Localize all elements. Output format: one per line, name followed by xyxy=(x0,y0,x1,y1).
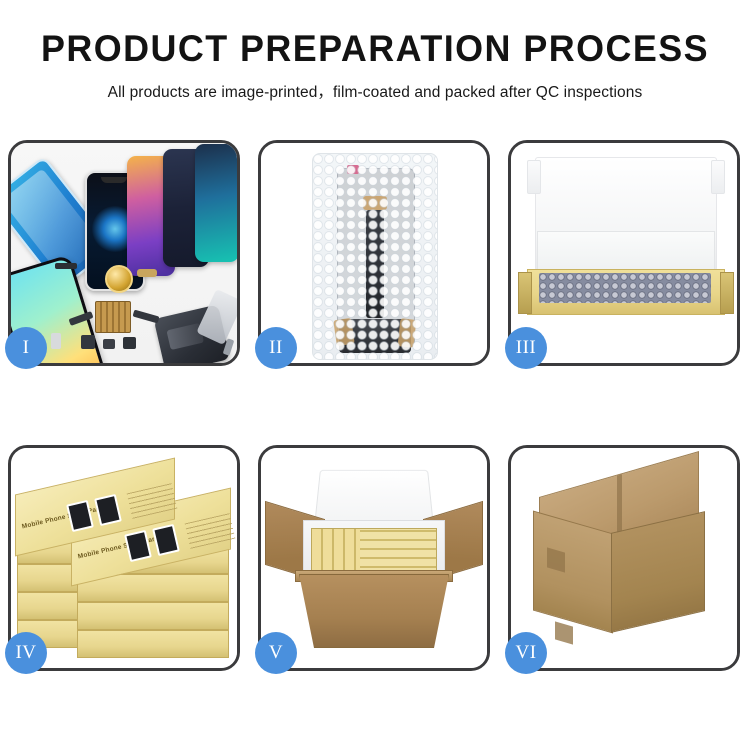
small-component-3 xyxy=(123,337,136,349)
step-image-3 xyxy=(511,143,737,363)
step-panel-4: Mobile Phone Spare Parts Mobile Phone Sp… xyxy=(8,445,240,671)
header: PRODUCT PREPARATION PROCESS All products… xyxy=(0,0,750,102)
step-image-1 xyxy=(11,143,237,363)
page-subtitle: All products are image-printed，film-coat… xyxy=(0,80,750,102)
step-badge-2: II xyxy=(255,327,297,369)
flex-cable-part-2 xyxy=(133,310,160,324)
step-badge-3: III xyxy=(505,327,547,369)
page-title: PRODUCT PREPARATION PROCESS xyxy=(11,30,739,69)
sealed-carton-right-face xyxy=(611,511,705,633)
stacked-box-front-1 xyxy=(77,630,229,658)
bubble-texture xyxy=(313,154,437,359)
packed-retail-boxes xyxy=(311,528,437,576)
step-badge-1: I xyxy=(5,327,47,369)
small-component-1 xyxy=(81,335,95,349)
step-badge-4: IV xyxy=(5,632,47,674)
step-panel-2: II xyxy=(258,140,490,366)
step-panel-1: I xyxy=(8,140,240,366)
gold-coil-part xyxy=(105,265,133,293)
bubble-wrap-bag xyxy=(312,153,438,360)
step-panel-5: V xyxy=(258,445,490,671)
step-image-2 xyxy=(261,143,487,363)
gold-connector-part xyxy=(137,269,157,277)
step-image-4: Mobile Phone Spare Parts Mobile Phone Sp… xyxy=(11,448,237,668)
steps-grid: I II xyxy=(8,140,742,671)
step-badge-6: VI xyxy=(505,632,547,674)
phone-teal xyxy=(195,144,237,262)
flex-cable-part-3 xyxy=(55,263,77,269)
carton-handle-tab-bottom xyxy=(555,621,573,644)
small-component-4 xyxy=(51,333,61,349)
stacked-box-front-2 xyxy=(77,602,229,630)
step-panel-6: VI xyxy=(508,445,740,671)
carton-body xyxy=(299,574,449,648)
box-stack: Mobile Phone Spare Parts Mobile Phone Sp… xyxy=(15,470,237,656)
product-preparation-infographic: PRODUCT PREPARATION PROCESS All products… xyxy=(0,0,750,750)
step-panel-3: III xyxy=(508,140,740,366)
step-image-5 xyxy=(261,448,487,668)
step-image-6 xyxy=(511,448,737,668)
step-badge-5: V xyxy=(255,632,297,674)
chip-grid-part xyxy=(95,301,131,333)
grey-bubble-wrap-inside xyxy=(539,273,711,303)
small-component-2 xyxy=(103,339,115,349)
